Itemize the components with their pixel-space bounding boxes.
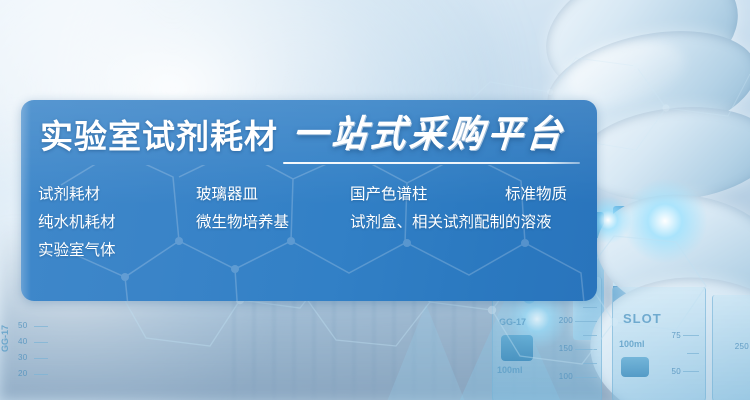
headline-primary-text: 实验室试剂耗材 — [40, 120, 278, 153]
category-item-reagent-consumables[interactable]: 试剂耗材 — [38, 180, 100, 208]
laboratory-reagent-banner: 250 APPROX 200 150 100 GG-17 100ml SLOT … — [0, 0, 750, 400]
category-item-water-purifier-consumables[interactable]: 纯水机耗材 — [38, 208, 116, 236]
headline-panel: 实验室试剂耗材 一站式采购平台 试剂耗材 玻璃器皿 国产色谱柱 标准物质 纯水机… — [21, 100, 597, 301]
category-item-microbial-culture-media[interactable]: 微生物培养基 — [196, 208, 289, 236]
category-item-laboratory-gases[interactable]: 实验室气体 — [38, 236, 116, 264]
category-row: 纯水机耗材 微生物培养基 试剂盒、相关试剂配制的溶液 — [38, 208, 594, 236]
category-row: 试剂耗材 玻璃器皿 国产色谱柱 标准物质 — [38, 180, 594, 208]
category-item-glassware[interactable]: 玻璃器皿 — [196, 180, 258, 208]
page-title: 实验室试剂耗材 一站式采购平台 — [40, 118, 564, 153]
category-item-reference-materials[interactable]: 标准物质 — [505, 180, 567, 208]
category-item-reagent-kits-solutions[interactable]: 试剂盒、相关试剂配制的溶液 — [350, 208, 552, 236]
category-item-domestic-chromatography-column[interactable]: 国产色谱柱 — [350, 180, 428, 208]
headline-underline — [283, 162, 580, 164]
category-list: 试剂耗材 玻璃器皿 国产色谱柱 标准物质 纯水机耗材 微生物培养基 试剂盒、相关… — [38, 180, 594, 264]
category-row: 实验室气体 — [38, 236, 594, 264]
headline-brush-text: 一站式采购平台 — [291, 116, 567, 153]
